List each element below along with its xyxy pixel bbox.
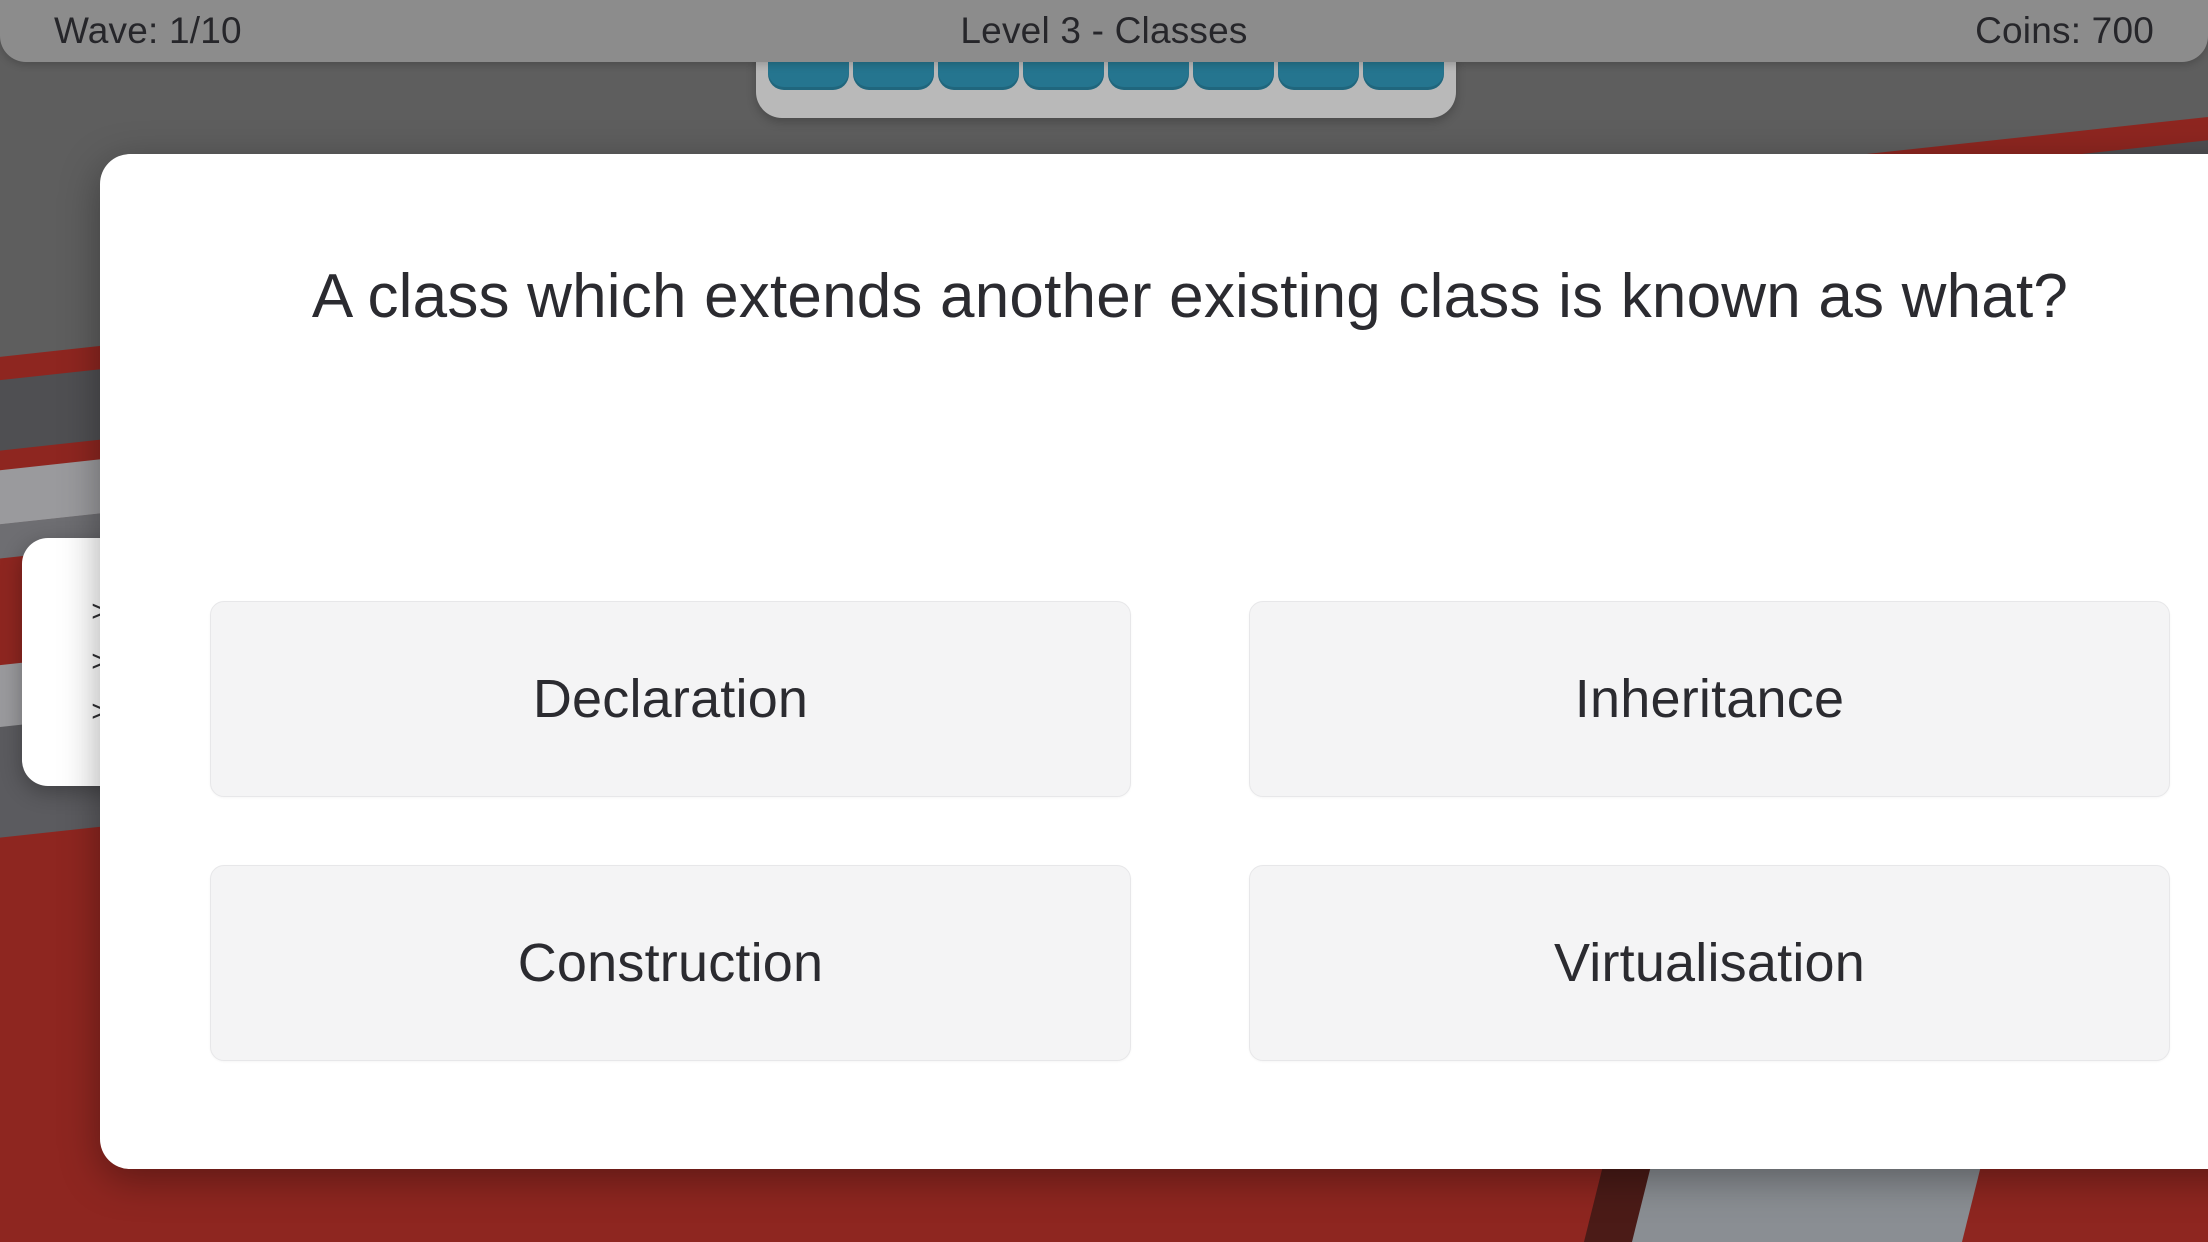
level-title: Level 3 - Classes <box>0 10 2208 52</box>
question-prompt: A class which extends another existing c… <box>312 260 2068 333</box>
game-root: Wave: 1/10 Level 3 - Classes Coins: 700 … <box>0 0 2208 1242</box>
answer-button-construction[interactable]: Construction <box>210 865 1131 1061</box>
question-modal: A class which extends another existing c… <box>100 154 2208 1169</box>
coin-counter: Coins: 700 <box>1975 10 2154 52</box>
hud-bar: Wave: 1/10 Level 3 - Classes Coins: 700 <box>0 0 2208 62</box>
answer-button-virtualisation[interactable]: Virtualisation <box>1249 865 2170 1061</box>
answer-grid: Declaration Inheritance Construction Vir… <box>210 601 2170 1061</box>
answer-button-inheritance[interactable]: Inheritance <box>1249 601 2170 797</box>
answer-button-declaration[interactable]: Declaration <box>210 601 1131 797</box>
wave-counter: Wave: 1/10 <box>54 10 242 52</box>
